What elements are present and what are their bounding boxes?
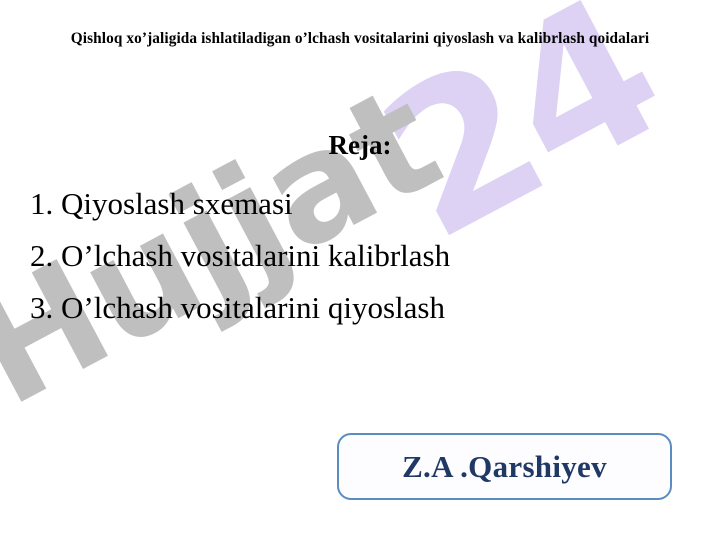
plan-heading: Reja: xyxy=(40,128,680,162)
slide-content: Qishloq xo’jaligida ishlatiladigan o’lch… xyxy=(0,0,720,540)
plan-list-item: 1. Qiyoslash sxemasi xyxy=(30,178,690,230)
plan-list-item: 3. O’lchash vositalarini qiyoslash xyxy=(30,282,690,334)
author-name: Z.A .Qarshiyev xyxy=(402,449,607,485)
plan-list: 1. Qiyoslash sxemasi 2. O’lchash vosital… xyxy=(30,178,690,334)
plan-list-item: 2. O’lchash vositalarini kalibrlash xyxy=(30,230,690,282)
slide-title: Qishloq xo’jaligida ishlatiladigan o’lch… xyxy=(40,27,680,51)
author-name-box: Z.A .Qarshiyev xyxy=(337,433,672,500)
presentation-slide: 24 Hujjat Qishloq xo’jaligida ishlatilad… xyxy=(0,0,720,540)
